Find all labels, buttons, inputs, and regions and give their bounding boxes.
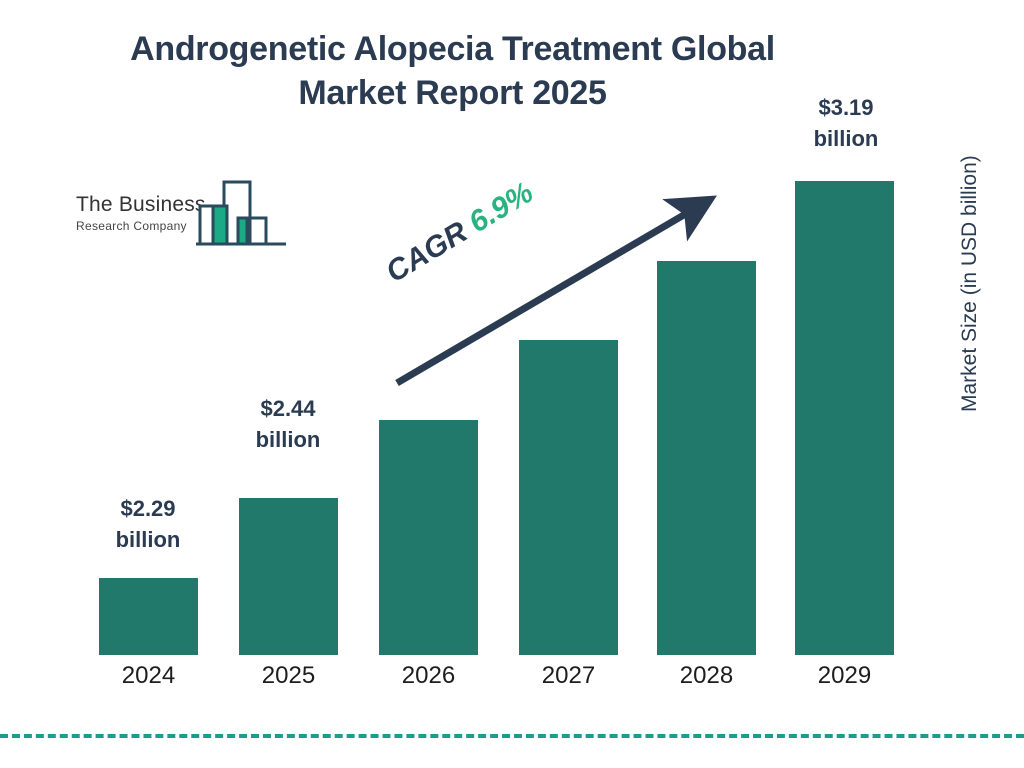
xtick-2027: 2027 bbox=[519, 662, 618, 690]
y-axis-label: Market Size (in USD billion) bbox=[958, 212, 982, 412]
bar-2028[interactable] bbox=[657, 261, 756, 655]
xtick-2025: 2025 bbox=[239, 662, 338, 690]
bar-label-2024: $2.29 billion bbox=[83, 493, 213, 555]
xtick-2024: 2024 bbox=[99, 662, 198, 690]
bar-label-2024-unit: billion bbox=[83, 524, 213, 555]
bar-2025[interactable] bbox=[239, 498, 338, 655]
bar-label-2025-amount: $2.44 bbox=[223, 393, 353, 424]
xtick-2028: 2028 bbox=[657, 662, 756, 690]
xtick-2026: 2026 bbox=[379, 662, 478, 690]
plot-area: $2.29 billion 2024 $2.44 billion 2025 20… bbox=[0, 0, 1024, 768]
bar-label-2025: $2.44 billion bbox=[223, 393, 353, 455]
bar-2027[interactable] bbox=[519, 340, 618, 655]
chart-canvas: Androgenetic Alopecia Treatment Global M… bbox=[0, 0, 1024, 768]
bar-2029[interactable] bbox=[795, 181, 894, 655]
bar-2024[interactable] bbox=[99, 578, 198, 655]
bar-2026[interactable] bbox=[379, 420, 478, 655]
footer-divider bbox=[0, 734, 1024, 738]
xtick-2029: 2029 bbox=[795, 662, 894, 690]
bar-label-2024-amount: $2.29 bbox=[83, 493, 213, 524]
bar-label-2025-unit: billion bbox=[223, 424, 353, 455]
